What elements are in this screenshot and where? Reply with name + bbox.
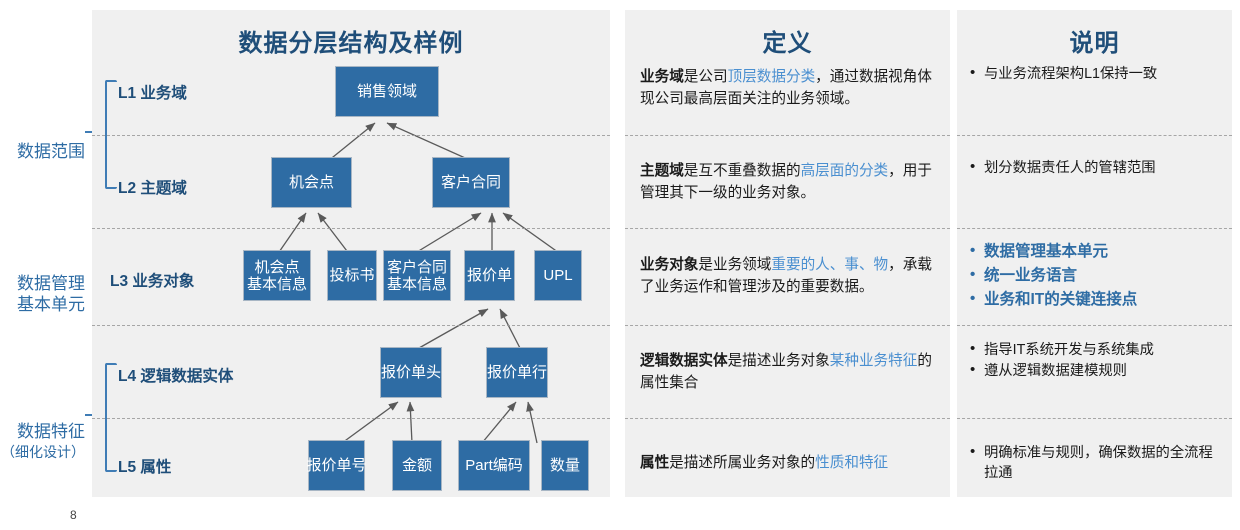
diagram-panel-title: 数据分层结构及样例 bbox=[92, 23, 610, 58]
node-label: 报价单头 bbox=[381, 364, 441, 381]
definition-fragment: 是互不重叠数据的 bbox=[684, 163, 801, 179]
level-label-l1: L1 业务域 bbox=[118, 81, 187, 103]
note-list-item: 指导IT系统开发与系统集成 bbox=[968, 340, 1226, 360]
node-l4-0[interactable]: 报价单头 bbox=[380, 347, 442, 398]
node-l5-0[interactable]: 报价单号 bbox=[308, 440, 365, 491]
node-l1-0[interactable]: 销售领域 bbox=[335, 66, 439, 117]
definition-fragment: 是公司 bbox=[684, 69, 728, 85]
note-list-item: 数据管理基本单元 bbox=[968, 240, 1226, 263]
note-cell-l2: 划分数据责任人的管辖范围 bbox=[968, 158, 1226, 179]
node-l5-1[interactable]: 金额 bbox=[392, 440, 442, 491]
note-cell-l3: 数据管理基本单元统一业务语言业务和IT的关键连接点 bbox=[968, 240, 1226, 312]
note-list-item: 业务和IT的关键连接点 bbox=[968, 288, 1226, 311]
note-list-item: 划分数据责任人的管辖范围 bbox=[968, 158, 1226, 178]
definition-fragment: 逻辑数据实体 bbox=[640, 353, 728, 369]
node-l3-0[interactable]: 机会点 基本信息 bbox=[243, 250, 311, 301]
scope-label-data-feature: 数据特征 （细化设计） bbox=[0, 400, 85, 484]
node-l3-1[interactable]: 投标书 bbox=[327, 250, 377, 301]
definition-fragment: 是描述所属业务对象的 bbox=[669, 455, 815, 471]
definition-fragment: 性质和特征 bbox=[815, 455, 888, 471]
definition-fragment: 主题域 bbox=[640, 163, 684, 179]
node-l3-2[interactable]: 客户合同 基本信息 bbox=[383, 250, 451, 301]
node-l2-0[interactable]: 机会点 bbox=[271, 157, 352, 208]
node-l3-3[interactable]: 报价单 bbox=[464, 250, 515, 301]
row-divider-1-right bbox=[957, 135, 1232, 136]
node-label: 销售领域 bbox=[357, 83, 417, 100]
scope-label-text: 数据范围 bbox=[17, 142, 85, 161]
row-divider-3-mid bbox=[625, 325, 950, 326]
node-l2-1[interactable]: 客户合同 bbox=[432, 157, 510, 208]
definition-cell-l1: 业务域是公司顶层数据分类，通过数据视角体现公司最高层面关注的业务领域。 bbox=[640, 66, 940, 110]
note-cell-l4: 指导IT系统开发与系统集成遵从逻辑数据建模规则 bbox=[968, 340, 1226, 382]
definition-cell-l3: 业务对象是业务领域重要的人、事、物，承载了业务运作和管理涉及的重要数据。 bbox=[640, 254, 940, 298]
row-divider-4-right bbox=[957, 418, 1232, 419]
node-label: 数量 bbox=[550, 457, 580, 474]
note-list-item: 与业务流程架构L1保持一致 bbox=[968, 64, 1226, 84]
row-divider-2-mid bbox=[625, 228, 950, 229]
node-label: 投标书 bbox=[329, 267, 374, 284]
row-divider-1-mid bbox=[625, 135, 950, 136]
definition-fragment: 是业务领域 bbox=[698, 257, 771, 273]
node-label: 报价单号 bbox=[307, 457, 367, 474]
node-label: Part编码 bbox=[465, 457, 523, 474]
definition-fragment: 属性 bbox=[640, 455, 669, 471]
row-divider-3-left bbox=[92, 325, 610, 326]
scope-sublabel-text: （细化设计） bbox=[0, 442, 85, 463]
node-label: 客户合同 基本信息 bbox=[387, 259, 447, 293]
scope-label-text: 数据特征 bbox=[17, 422, 85, 441]
definition-panel-title: 定义 bbox=[625, 23, 950, 58]
scope-label-data-mgmt-unit: 数据管理 基本单元 bbox=[0, 252, 85, 315]
definition-fragment: 业务对象 bbox=[640, 257, 698, 273]
node-l3-4[interactable]: UPL bbox=[534, 250, 582, 301]
scope-label-data-range: 数据范围 bbox=[0, 120, 85, 162]
node-label: 客户合同 bbox=[441, 174, 501, 191]
page-number: 8 bbox=[70, 508, 77, 522]
scope-label-text: 数据管理 基本单元 bbox=[17, 274, 85, 314]
node-label: 机会点 bbox=[289, 174, 334, 191]
definition-cell-l2: 主题域是互不重叠数据的高层面的分类，用于管理其下一级的业务对象。 bbox=[640, 160, 940, 204]
level-label-l5: L5 属性 bbox=[118, 455, 171, 477]
node-label: 报价单行 bbox=[487, 364, 547, 381]
definition-cell-l4: 逻辑数据实体是描述业务对象某种业务特征的属性集合 bbox=[640, 350, 940, 394]
note-list-item: 遵从逻辑数据建模规则 bbox=[968, 361, 1226, 381]
note-cell-l1: 与业务流程架构L1保持一致 bbox=[968, 64, 1226, 85]
note-list-item: 统一业务语言 bbox=[968, 264, 1226, 287]
row-divider-1-left bbox=[92, 135, 610, 136]
definition-fragment: 业务域 bbox=[640, 69, 684, 85]
definition-fragment: 某种业务特征 bbox=[830, 353, 918, 369]
note-cell-l5: 明确标准与规则，确保数据的全流程拉通 bbox=[968, 443, 1226, 484]
definition-fragment: 高层面的分类 bbox=[801, 163, 889, 179]
definition-fragment: 是描述业务对象 bbox=[728, 353, 830, 369]
node-label: 机会点 基本信息 bbox=[247, 259, 307, 293]
level-label-l4: L4 逻辑数据实体 bbox=[118, 364, 233, 386]
row-divider-3-right bbox=[957, 325, 1232, 326]
node-l4-1[interactable]: 报价单行 bbox=[486, 347, 548, 398]
definition-fragment: 顶层数据分类 bbox=[728, 69, 816, 85]
node-label: UPL bbox=[543, 267, 572, 284]
row-divider-2-right bbox=[957, 228, 1232, 229]
definition-cell-l5: 属性是描述所属业务对象的性质和特征 bbox=[640, 452, 940, 474]
level-label-l3: L3 业务对象 bbox=[110, 269, 194, 291]
level-label-l2: L2 主题域 bbox=[118, 176, 187, 198]
node-l5-2[interactable]: Part编码 bbox=[458, 440, 530, 491]
node-label: 金额 bbox=[402, 457, 432, 474]
node-label: 报价单 bbox=[467, 267, 512, 284]
row-divider-2-left bbox=[92, 228, 610, 229]
node-l5-3[interactable]: 数量 bbox=[541, 440, 589, 491]
definition-fragment: 重要的人、事、物 bbox=[771, 257, 888, 273]
row-divider-4-mid bbox=[625, 418, 950, 419]
note-list-item: 明确标准与规则，确保数据的全流程拉通 bbox=[968, 443, 1226, 483]
row-divider-4-left bbox=[92, 418, 610, 419]
note-panel-title: 说明 bbox=[957, 23, 1232, 58]
